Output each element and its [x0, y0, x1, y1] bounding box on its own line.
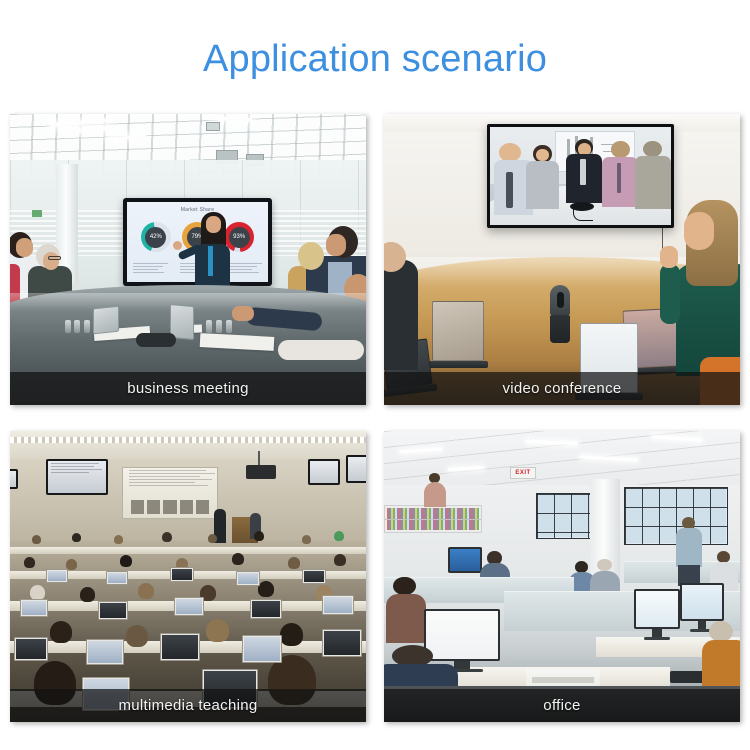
conference-camera — [550, 285, 570, 343]
student-head — [302, 535, 311, 544]
desktop-monitor — [680, 583, 724, 621]
slide-text-column — [227, 263, 262, 275]
scenario-caption-office: office — [384, 689, 740, 722]
attendee-hand — [232, 306, 254, 321]
wall-mounted-television — [487, 124, 674, 228]
student-laptop — [46, 569, 68, 583]
projection-screen — [122, 467, 218, 519]
attendee-arm — [278, 340, 364, 360]
student-head — [254, 531, 264, 541]
attendee-glasses — [48, 256, 61, 260]
student-head — [280, 623, 303, 646]
ceiling-vent — [206, 122, 220, 131]
bookshelf — [384, 505, 482, 533]
projected-thumbnails — [131, 500, 209, 514]
office-worker — [424, 473, 446, 507]
laptop — [93, 306, 119, 335]
donut-value: 42% — [145, 227, 166, 248]
slide-title: Market Share — [127, 207, 268, 213]
wall-monitor — [10, 469, 18, 489]
scenario-card-business-meeting[interactable]: Market Share 42% 79% 93% — [10, 114, 366, 405]
slide-text-column — [133, 263, 168, 275]
student-head — [120, 555, 132, 567]
student-head — [72, 533, 81, 542]
remote-participant — [566, 139, 602, 204]
business-meeting-photo: Market Share 42% 79% 93% — [10, 114, 366, 405]
student-head — [288, 557, 300, 569]
wall-monitor — [46, 459, 108, 495]
office-worker — [676, 517, 702, 585]
participant-body — [384, 260, 418, 370]
attendee-face — [326, 234, 346, 256]
laptop — [432, 301, 484, 361]
student-head — [126, 625, 148, 647]
student-head — [232, 553, 244, 565]
student-head — [30, 585, 45, 600]
wall-monitor — [346, 455, 366, 483]
student-laptop — [98, 601, 128, 620]
student-laptop — [20, 599, 48, 617]
presenter-hand — [173, 241, 182, 250]
desktop-monitor — [448, 547, 482, 573]
student-laptop — [242, 635, 282, 663]
presenter-face — [206, 216, 221, 233]
speakerphone-cable — [573, 209, 593, 221]
conference-speakerphone — [136, 333, 176, 347]
student-laptop — [174, 597, 204, 616]
scenario-caption-video-conference: video conference — [384, 372, 740, 405]
participant-face — [684, 212, 714, 250]
ceiling-projector — [246, 465, 276, 479]
participant-arm — [660, 264, 680, 324]
scenario-caption-multimedia-teaching: multimedia teaching — [10, 689, 366, 722]
student-laptop — [14, 637, 48, 661]
scenario-caption-business-meeting: business meeting — [10, 372, 366, 405]
participant-hand — [660, 246, 678, 268]
office-photo: EXIT — [384, 431, 740, 722]
student-head — [80, 587, 95, 602]
student-laptop — [236, 571, 260, 586]
scenario-card-office[interactable]: EXIT — [384, 431, 740, 722]
student-head — [138, 583, 154, 599]
video-conference-photo — [384, 114, 740, 405]
student-head — [206, 619, 229, 642]
microphone — [65, 320, 71, 333]
desktop-monitor — [634, 589, 680, 629]
multimedia-teaching-photo — [10, 431, 366, 722]
attendee-face — [43, 252, 59, 270]
application-scenario-page: Application scenario — [0, 0, 750, 750]
microphone — [74, 320, 80, 333]
student-head — [334, 531, 344, 541]
student-laptop — [106, 571, 128, 585]
student-laptop — [322, 629, 362, 657]
page-title: Application scenario — [0, 36, 750, 82]
desk-row — [10, 547, 366, 554]
microphone — [226, 320, 232, 333]
exit-sign: EXIT — [510, 467, 536, 479]
ceiling — [10, 431, 366, 461]
student-head — [162, 532, 172, 542]
microphone — [216, 320, 222, 333]
student-laptop — [160, 633, 200, 661]
scenario-card-multimedia-teaching[interactable]: multimedia teaching — [10, 431, 366, 722]
donut-chart: 42% — [141, 222, 171, 252]
attendee-face — [16, 238, 33, 257]
remote-participant — [526, 145, 559, 210]
microphone — [84, 320, 90, 333]
student-laptop — [250, 599, 282, 619]
student-head — [114, 535, 123, 544]
office-worker — [386, 577, 426, 643]
television-screen — [490, 127, 671, 225]
student-head — [32, 535, 41, 544]
student-head — [208, 534, 217, 543]
student-head — [24, 557, 35, 568]
scenario-grid: Market Share 42% 79% 93% — [10, 114, 740, 722]
student-laptop — [302, 569, 326, 584]
remote-participant — [602, 141, 638, 208]
remote-participant — [635, 141, 671, 210]
camera-lens-icon — [557, 292, 564, 308]
student-laptop — [170, 567, 194, 582]
student-head — [334, 554, 346, 566]
exit-sign-icon — [32, 210, 42, 217]
student-laptop — [86, 639, 124, 665]
donut-value: 93% — [229, 227, 250, 248]
presenter-scarf — [208, 246, 213, 276]
scenario-card-video-conference[interactable]: video conference — [384, 114, 740, 405]
office-window — [536, 493, 596, 539]
student-head — [258, 581, 274, 597]
wall-monitor — [308, 459, 340, 485]
attendee-head — [298, 242, 324, 270]
student-laptop — [322, 595, 354, 615]
microphone — [206, 320, 212, 333]
student-head — [50, 621, 72, 643]
